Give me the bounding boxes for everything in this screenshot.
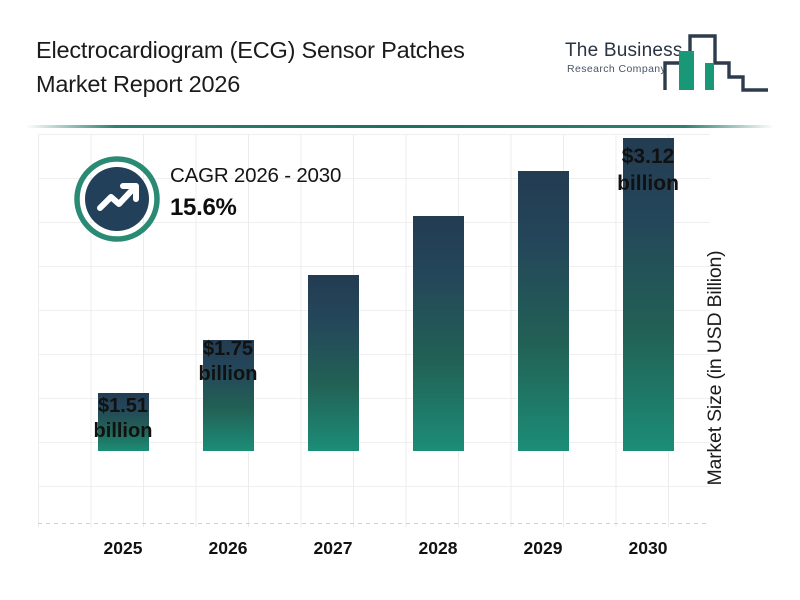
cagr-value-label: 15.6%	[170, 194, 341, 222]
bar-value-label-2025-amount: $1.51	[98, 395, 148, 417]
header-divider	[26, 125, 774, 128]
x-tick-2028: 2028	[383, 538, 493, 559]
page-title: Electrocardiogram (ECG) Sensor Patches M…	[36, 33, 566, 101]
chart-page: Electrocardiogram (ECG) Sensor Patches M…	[0, 0, 800, 600]
y-axis-title-text: Market Size (in USD Billion)	[704, 218, 727, 518]
x-tick-2030: 2030	[593, 538, 703, 559]
header: Electrocardiogram (ECG) Sensor Patches M…	[0, 0, 800, 118]
x-tick-2027: 2027	[278, 538, 388, 559]
bar-value-label-2030-amount: $3.12	[622, 145, 675, 168]
bar-2027	[308, 275, 359, 451]
bar-value-label-2026: $1.75 billion	[173, 337, 283, 387]
page-title-line-2: Market Report 2026	[36, 67, 566, 101]
cagr-trend-up-icon	[74, 156, 160, 242]
bar-2029	[518, 171, 569, 451]
bar-value-label-2026-amount: $1.75	[203, 338, 253, 360]
x-tick-2029: 2029	[488, 538, 598, 559]
bar-value-label-2025: $1.51 billion	[68, 394, 178, 444]
x-axis: 2025 2026 2027 2028 2029 2030	[0, 530, 800, 570]
x-tick-2026: 2026	[173, 538, 283, 559]
bar-2028	[413, 216, 464, 451]
cagr-badge: CAGR 2026 - 2030 15.6%	[74, 154, 404, 246]
bar-value-label-2025-unit: billion	[94, 420, 153, 442]
bar-value-label-2030-unit: billion	[617, 172, 679, 195]
chart-container: $1.51 billion $1.75 billion $3.12 billio…	[0, 130, 800, 600]
bar-value-label-2030: $3.12 billion	[593, 143, 703, 197]
cagr-period-label: CAGR 2026 - 2030	[170, 164, 341, 188]
page-title-line-1: Electrocardiogram (ECG) Sensor Patches	[36, 33, 566, 67]
x-tick-2025: 2025	[68, 538, 178, 559]
y-axis-title: Market Size (in USD Billion)	[704, 0, 734, 218]
bar-value-label-2026-unit: billion	[199, 363, 258, 385]
company-logo: The Business Research Company	[565, 30, 770, 102]
cagr-text-block: CAGR 2026 - 2030 15.6%	[170, 164, 341, 222]
